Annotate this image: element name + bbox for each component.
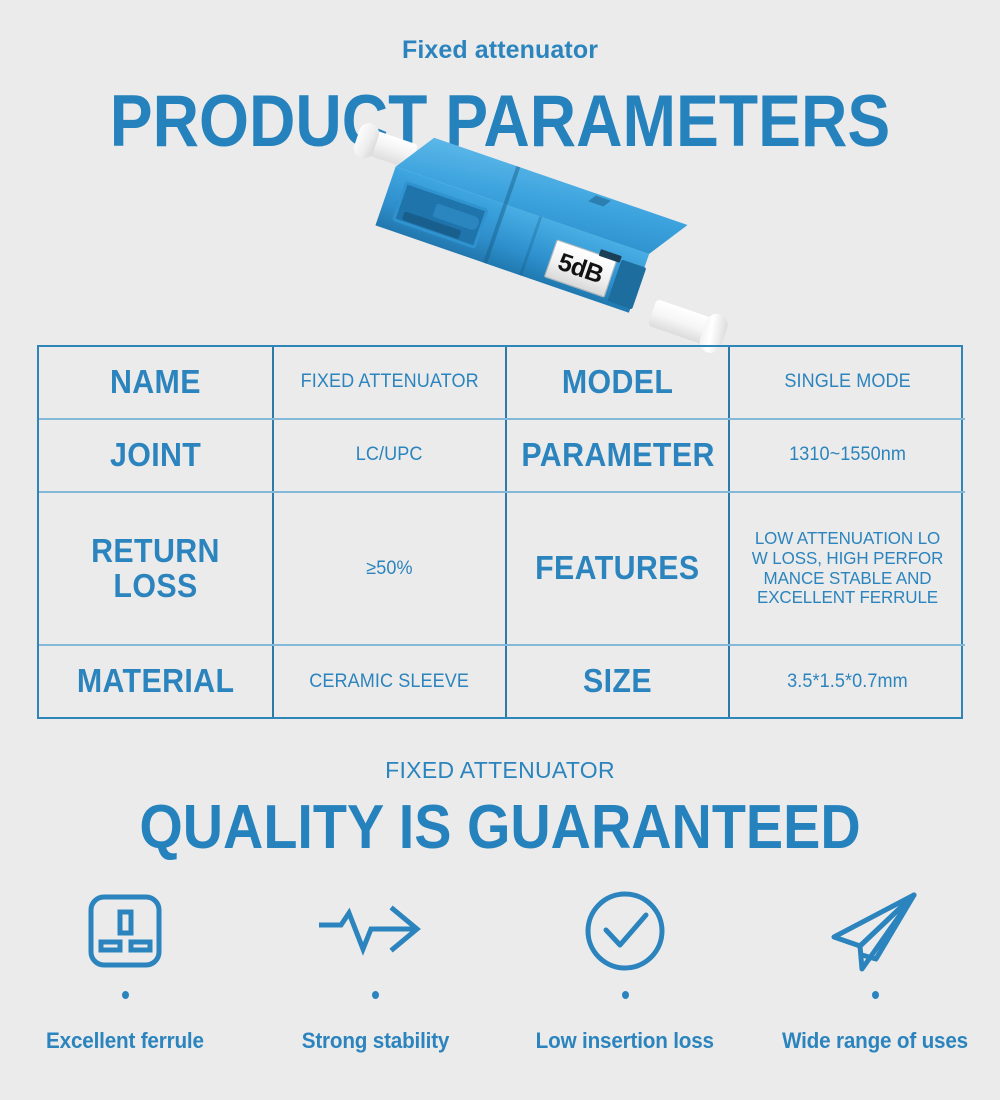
feature-dot bbox=[872, 991, 879, 999]
feature-label: Low insertion loss bbox=[536, 1028, 714, 1054]
spec-label-name: NAME bbox=[110, 365, 201, 400]
spec-label-cell: MODEL bbox=[506, 347, 729, 419]
product-image: 5dB bbox=[330, 160, 730, 325]
spec-value-cell: SINGLE MODE bbox=[729, 347, 965, 419]
spec-value-cell: LOW ATTENUATION LO W LOSS, HIGH PERFOR M… bbox=[729, 492, 965, 646]
spec-label-material: MATERIAL bbox=[77, 664, 235, 699]
dust-cap-right-icon bbox=[648, 299, 720, 347]
spec-value-cell: LC/UPC bbox=[273, 419, 506, 492]
table-row: RETURN LOSS ≥50% FEATURES LOW ATTENUATIO… bbox=[39, 492, 965, 646]
attenuation-label-text: 5dB bbox=[555, 249, 606, 288]
page-title: PRODUCT PARAMETERS bbox=[60, 84, 940, 160]
spec-label-cell: JOINT bbox=[39, 419, 273, 492]
spec-label-cell: SIZE bbox=[506, 645, 729, 717]
feature-list: Excellent ferrule Strong stability Low i… bbox=[0, 885, 1000, 1054]
waveform-arrow-icon bbox=[319, 885, 431, 977]
quality-subtitle: FIXED ATTENUATOR bbox=[0, 757, 1000, 784]
spec-label-model: MODEL bbox=[562, 365, 673, 400]
spec-value-model: SINGLE MODE bbox=[784, 371, 910, 393]
spec-value-features: LOW ATTENUATION LO W LOSS, HIGH PERFOR M… bbox=[739, 529, 955, 608]
spec-label-features: FEATURES bbox=[535, 551, 699, 586]
spec-label-cell: FEATURES bbox=[506, 492, 729, 646]
spec-value-cell: FIXED ATTENUATOR bbox=[273, 347, 506, 419]
spec-label-return-loss: RETURN LOSS bbox=[54, 534, 257, 603]
spec-value-parameter: 1310~1550nm bbox=[789, 444, 906, 466]
feature-label: Strong stability bbox=[301, 1028, 449, 1054]
feature-item-low-insertion-loss: Low insertion loss bbox=[503, 885, 748, 1054]
feature-dot bbox=[622, 991, 629, 999]
spec-label-cell: NAME bbox=[39, 347, 273, 419]
quality-title: QUALITY IS GUARANTEED bbox=[50, 795, 950, 861]
feature-item-excellent-ferrule: Excellent ferrule bbox=[3, 885, 248, 1054]
feature-item-wide-range-of-uses: Wide range of uses bbox=[753, 885, 998, 1054]
spec-value-cell: 1310~1550nm bbox=[729, 419, 965, 492]
attenuator-body: 5dB bbox=[362, 123, 694, 362]
feature-item-strong-stability: Strong stability bbox=[253, 885, 498, 1054]
spec-label-cell: MATERIAL bbox=[39, 645, 273, 717]
product-parameters-page: Fixed attenuator PRODUCT PARAMETERS 5dB bbox=[0, 0, 1000, 1100]
spec-value-name: FIXED ATTENUATOR bbox=[300, 371, 478, 393]
spec-label-size: SIZE bbox=[583, 664, 652, 699]
table-row: NAME FIXED ATTENUATOR MODEL SINGLE MODE bbox=[39, 347, 965, 419]
spec-value-size: 3.5*1.5*0.7mm bbox=[787, 671, 908, 693]
feature-dot bbox=[372, 991, 379, 999]
spec-label-cell: RETURN LOSS bbox=[39, 492, 273, 646]
power-socket-icon bbox=[86, 885, 164, 977]
spec-table: NAME FIXED ATTENUATOR MODEL SINGLE MODE … bbox=[37, 345, 963, 719]
check-circle-icon bbox=[583, 885, 667, 977]
spec-label-cell: PARAMETER bbox=[506, 419, 729, 492]
feature-label: Wide range of uses bbox=[782, 1028, 968, 1054]
feature-label: Excellent ferrule bbox=[46, 1028, 204, 1054]
table-row: JOINT LC/UPC PARAMETER 1310~1550nm bbox=[39, 419, 965, 492]
spec-value-return-loss: ≥50% bbox=[366, 558, 412, 580]
spec-label-joint: JOINT bbox=[110, 438, 201, 473]
paper-plane-icon bbox=[826, 885, 924, 977]
spec-label-parameter: PARAMETER bbox=[521, 438, 714, 473]
spec-value-cell: ≥50% bbox=[273, 492, 506, 646]
spec-value-cell: 3.5*1.5*0.7mm bbox=[729, 645, 965, 717]
header-subtitle: Fixed attenuator bbox=[0, 36, 1000, 65]
feature-dot bbox=[122, 991, 129, 999]
spec-value-material: CERAMIC SLEEVE bbox=[310, 671, 470, 693]
spec-value-joint: LC/UPC bbox=[356, 444, 423, 466]
spec-value-cell: CERAMIC SLEEVE bbox=[273, 645, 506, 717]
table-row: MATERIAL CERAMIC SLEEVE SIZE 3.5*1.5*0.7… bbox=[39, 645, 965, 717]
